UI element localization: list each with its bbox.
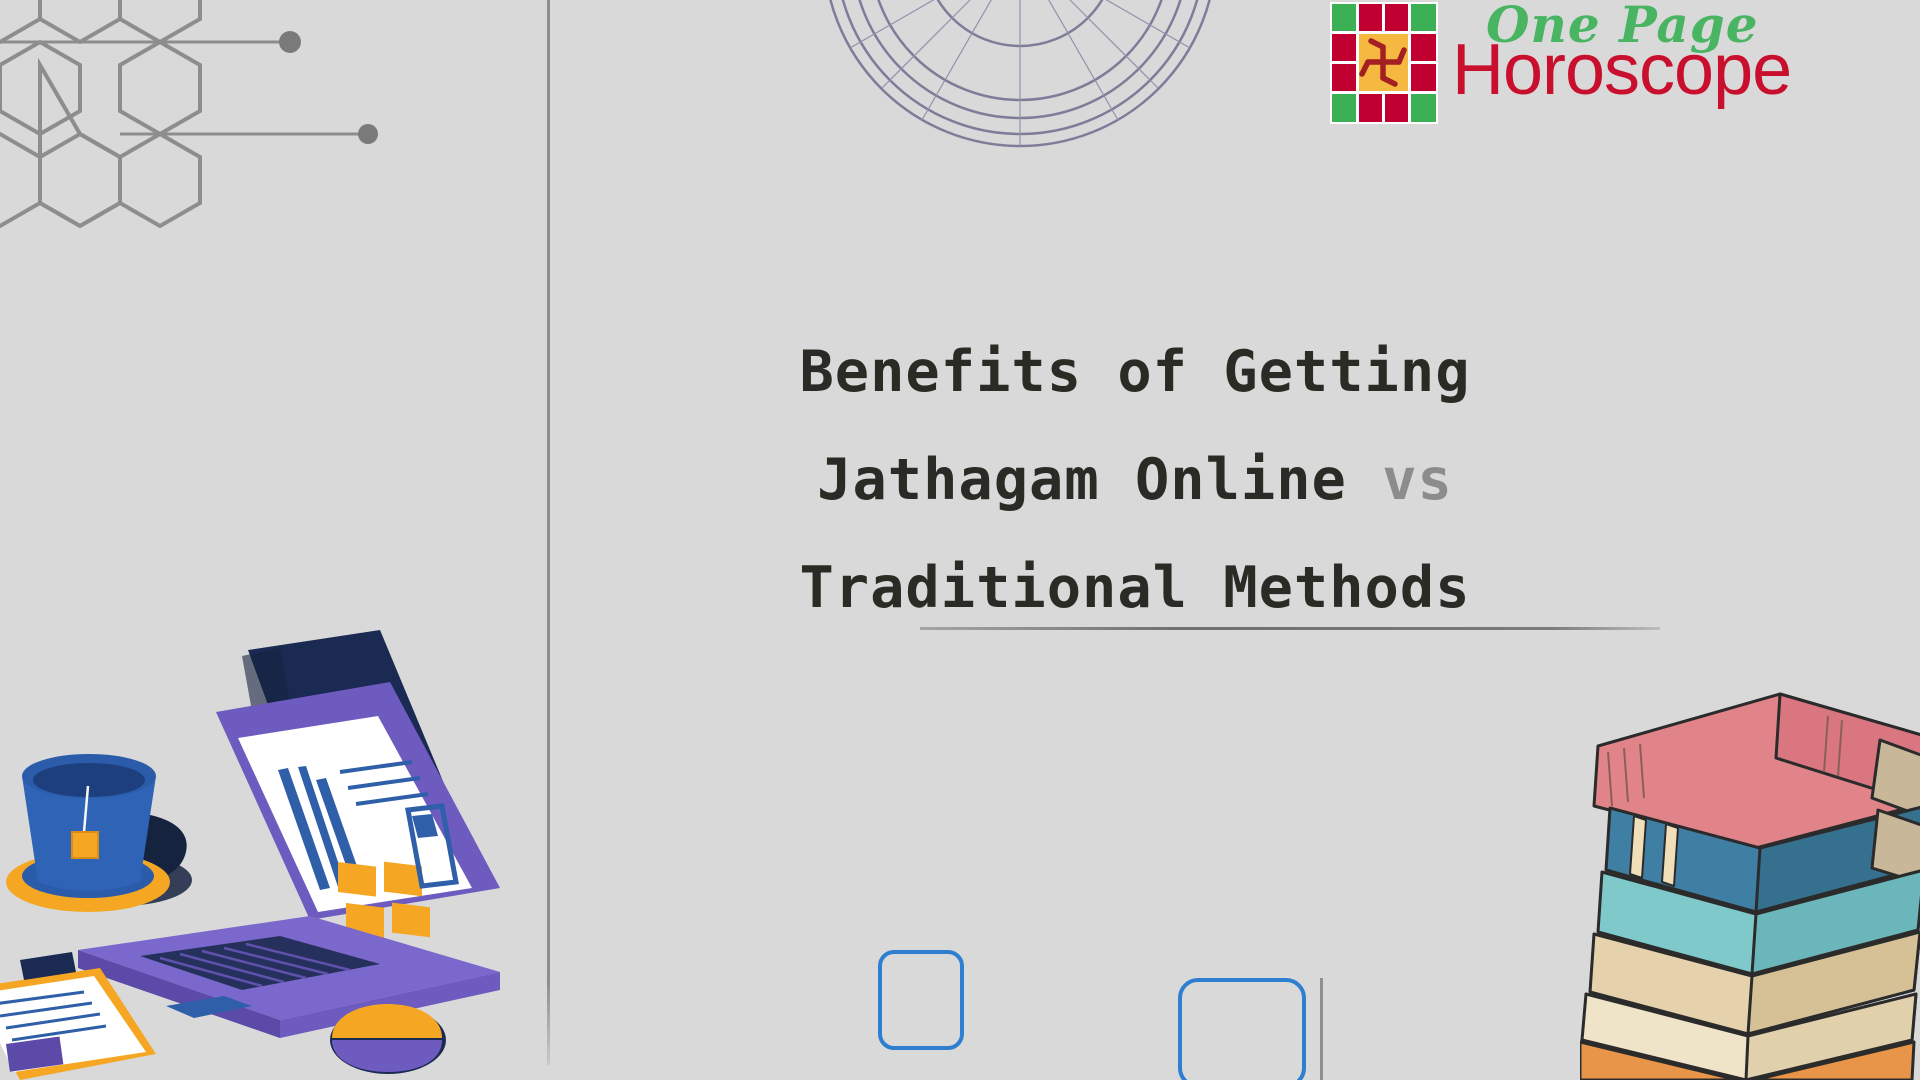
page-title: Benefits of Getting Jathagam Online vs T… [600,318,1670,642]
stack-of-books-illustration [1580,680,1920,1080]
banner-canvas: One Page Horoscope Benefits of Getting J… [0,0,1920,1080]
blue-rounded-square-outline-2 [1178,978,1306,1080]
swastika-grid-icon [1330,2,1438,124]
title-line-2-main: Jathagam Online [817,447,1347,513]
title-underline-rule [920,627,1660,630]
zodiac-birth-chart-wheel-icon [820,0,1220,150]
title-line-2: Jathagam Online vs [600,426,1670,534]
vertical-divider-line [547,0,550,1065]
isometric-laptop-workspace-illustration [0,620,500,1080]
blue-rounded-square-outline-1 [878,950,964,1050]
logo-wordmark: One Page Horoscope [1452,2,1791,100]
title-line-1: Benefits of Getting [600,318,1670,426]
brand-logo[interactable]: One Page Horoscope [1330,2,1791,124]
hexagon-honeycomb-pattern-icon [0,0,420,270]
blue-square-side-bar [1320,978,1323,1080]
title-line-3: Traditional Methods [600,534,1670,642]
logo-line-two: Horoscope [1452,40,1791,100]
title-vs-accent: vs [1382,447,1453,513]
